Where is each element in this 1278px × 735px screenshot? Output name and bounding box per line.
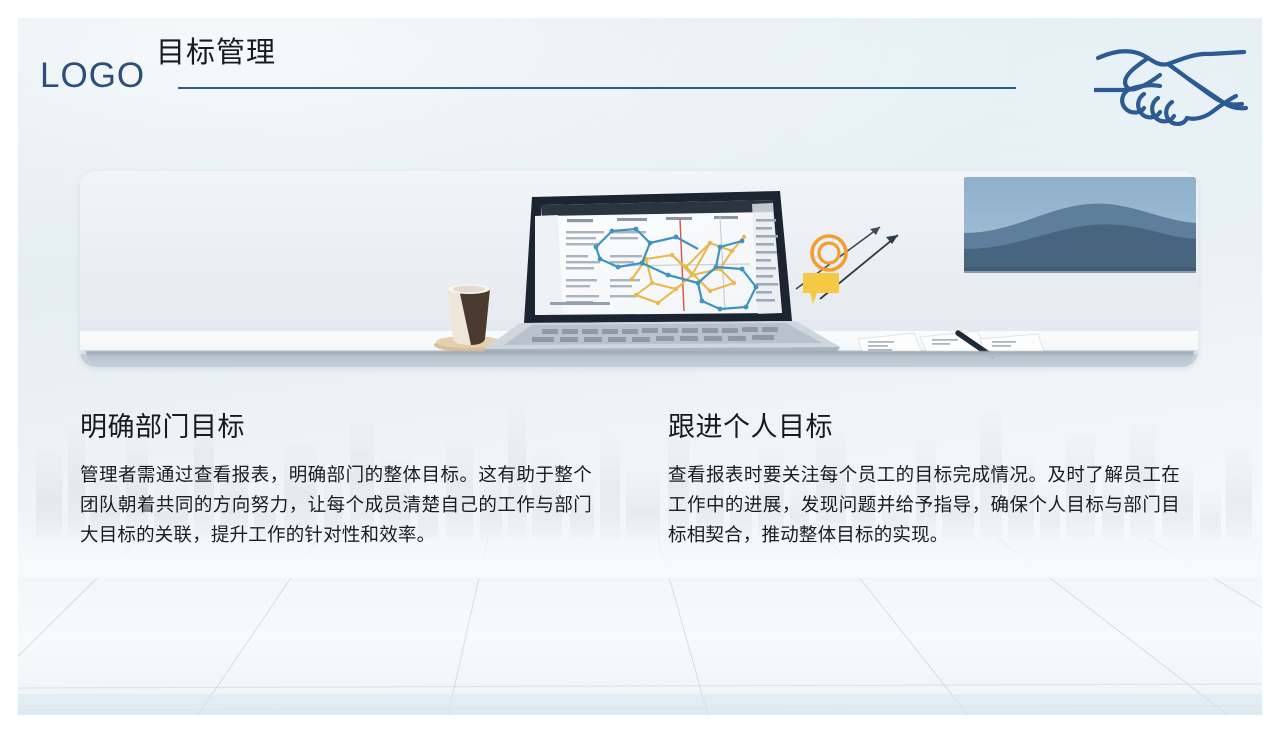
column-body-text: 管理者需通过查看报表，明确部门的整体目标。这有助于整个团队朝着共同的方向努力，让… (80, 460, 592, 550)
page-title: 目标管理 (156, 29, 276, 71)
logo-text: LOGO (40, 58, 145, 93)
title-underline-rule (178, 87, 1016, 89)
slide-canvas: LOGO 目标管理 (18, 18, 1262, 715)
plaza-ground (18, 538, 1262, 715)
column-heading: 明确部门目标 (80, 413, 600, 443)
column-heading: 跟进个人目标 (668, 413, 1188, 443)
column-body-text: 查看报表时要关注每个员工的目标完成情况。及时了解员工在工作中的进展，发现问题并给… (668, 460, 1180, 550)
column-personal-goal: 跟进个人目标 查看报表时要关注每个员工的目标完成情况。及时了解员工在工作中的进展… (668, 413, 1188, 550)
handshake-icon (1094, 28, 1254, 138)
photo-card-shadow (86, 351, 1194, 364)
hero-photo-card (80, 171, 1198, 367)
column-department-goal: 明确部门目标 管理者需通过查看报表，明确部门的整体目标。这有助于整个团队朝着共同… (80, 413, 600, 550)
